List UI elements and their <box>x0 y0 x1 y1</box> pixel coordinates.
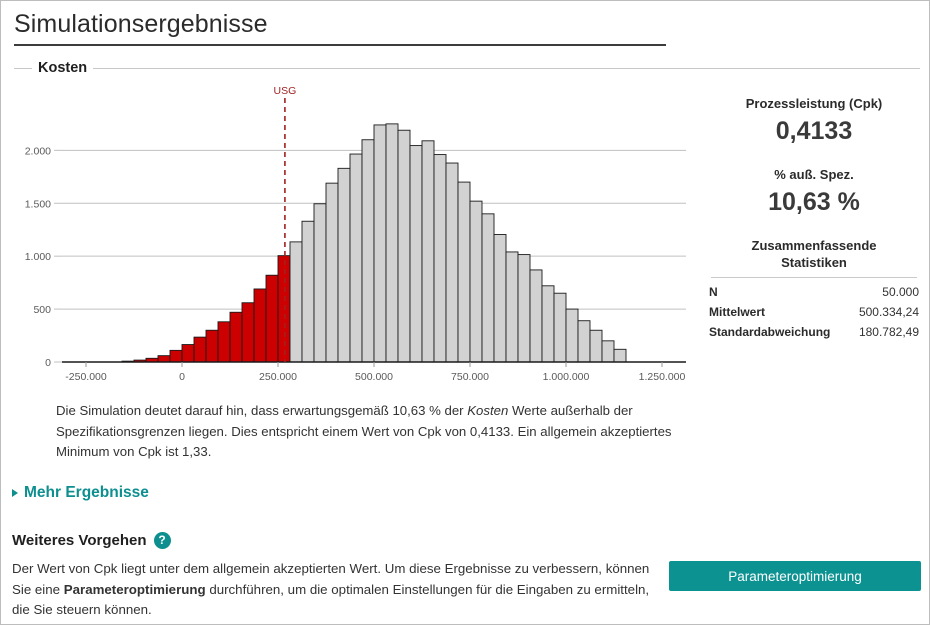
histogram-bar <box>590 330 602 362</box>
next-steps-header: Weiteres Vorgehen ? <box>12 532 171 549</box>
histogram-bar <box>362 140 374 362</box>
histogram-bar <box>614 349 626 362</box>
histogram-bar <box>374 125 386 362</box>
x-axis-tick-label: 0 <box>179 371 185 383</box>
histogram-bar <box>182 345 194 362</box>
histogram-bar <box>158 356 170 362</box>
y-axis-tick-label: 1.000 <box>25 251 51 263</box>
x-axis-tick-label: -250.000 <box>65 371 107 383</box>
histogram-bar <box>170 350 182 362</box>
summary-row-value: 500.334,24 <box>849 302 921 322</box>
histogram-bar <box>326 183 338 362</box>
histogram-bar <box>422 141 434 362</box>
summary-divider <box>711 277 917 278</box>
statistics-panel: Prozessleistung (Cpk) 0,4133 % auß. Spez… <box>707 95 921 342</box>
page-title: Simulationsergebnisse <box>14 7 666 41</box>
cpk-value: 0,4133 <box>707 115 921 148</box>
histogram-bar <box>554 293 566 362</box>
histogram-bar <box>386 124 398 362</box>
histogram-bar <box>482 214 494 362</box>
histogram-bar <box>194 337 206 362</box>
title-section: Simulationsergebnisse <box>14 7 666 46</box>
x-axis-tick-label: 500.000 <box>355 371 393 383</box>
explanation-text: Die Simulation deutet darauf hin, dass e… <box>56 401 686 463</box>
summary-row-key: N <box>707 282 849 302</box>
y-axis-tick-label: 1.500 <box>25 198 51 210</box>
histogram-bar <box>434 155 446 362</box>
cpk-caption: Prozessleistung (Cpk) <box>707 95 921 112</box>
summary-row-key: Standardabweichung <box>707 322 849 342</box>
summary-row-value: 50.000 <box>849 282 921 302</box>
histogram-bar <box>410 146 422 362</box>
more-results-toggle[interactable]: Mehr Ergebnisse <box>12 484 149 502</box>
group-label: Kosten <box>38 59 87 77</box>
table-row: Standardabweichung180.782,49 <box>707 322 921 342</box>
histogram-bar <box>542 286 554 362</box>
out-of-spec-value: 10,63 % <box>707 186 921 219</box>
x-axis-tick-label: 750.000 <box>451 371 489 383</box>
next-steps-heading: Weiteres Vorgehen <box>12 532 147 549</box>
histogram-bar <box>218 322 230 362</box>
x-axis-tick-label: 1.000.000 <box>543 371 590 383</box>
x-axis-tick-label: 250.000 <box>259 371 297 383</box>
histogram-bar <box>506 252 518 362</box>
help-icon[interactable]: ? <box>154 532 171 549</box>
table-row: Mittelwert500.334,24 <box>707 302 921 322</box>
triangle-right-icon <box>12 489 18 497</box>
group-divider-right <box>93 68 920 69</box>
histogram-chart: 05001.0001.5002.000-250.0000250.000500.0… <box>14 86 694 396</box>
more-results-label: Mehr Ergebnisse <box>24 484 149 502</box>
group-header-kosten: Kosten <box>14 59 920 77</box>
histogram-bar <box>446 163 458 362</box>
group-divider-left <box>14 68 32 69</box>
histogram-bar <box>266 275 278 362</box>
histogram-bar <box>602 341 614 362</box>
histogram-bar <box>242 303 254 362</box>
table-row: N50.000 <box>707 282 921 302</box>
summary-row-value: 180.782,49 <box>849 322 921 342</box>
histogram-bar <box>578 321 590 362</box>
histogram-bar <box>206 330 218 362</box>
histogram-bar <box>566 309 578 362</box>
out-of-spec-caption: % auß. Spez. <box>707 166 921 183</box>
histogram-bar <box>458 182 470 362</box>
summary-row-key: Mittelwert <box>707 302 849 322</box>
explanation-emphasis: Kosten <box>467 403 508 418</box>
usg-limit-label: USG <box>274 86 297 97</box>
summary-title-line1: Zusammenfassende <box>707 237 921 254</box>
histogram-svg: 05001.0001.5002.000-250.0000250.000500.0… <box>14 86 694 396</box>
simulation-results-window: Simulationsergebnisse Kosten 05001.0001.… <box>0 0 930 625</box>
histogram-bar <box>518 255 530 362</box>
histogram-bar <box>350 154 362 362</box>
histogram-bar <box>338 168 350 362</box>
histogram-bar <box>470 201 482 362</box>
explanation-part1: Die Simulation deutet darauf hin, dass e… <box>56 403 467 418</box>
y-axis-tick-label: 0 <box>45 357 51 369</box>
histogram-bar <box>398 130 410 362</box>
summary-statistics-table: N50.000Mittelwert500.334,24Standardabwei… <box>707 282 921 342</box>
histogram-bar <box>290 242 302 362</box>
histogram-bar <box>302 221 314 362</box>
histogram-bar <box>278 256 290 362</box>
y-axis-tick-label: 500 <box>33 304 51 316</box>
x-axis-tick-label: 1.250.000 <box>639 371 686 383</box>
histogram-bar <box>254 289 266 362</box>
histogram-bar <box>530 270 542 362</box>
next-steps-body: Der Wert von Cpk liegt unter dem allgeme… <box>12 559 654 621</box>
summary-title-line2: Statistiken <box>707 254 921 271</box>
histogram-bar <box>494 234 506 362</box>
histogram-bar <box>230 312 242 362</box>
histogram-bar <box>314 204 326 362</box>
next-steps-body-bold: Parameteroptimierung <box>64 582 206 597</box>
title-divider <box>14 44 666 46</box>
y-axis-tick-label: 2.000 <box>25 145 51 157</box>
parameter-optimization-button[interactable]: Parameteroptimierung <box>669 561 921 591</box>
